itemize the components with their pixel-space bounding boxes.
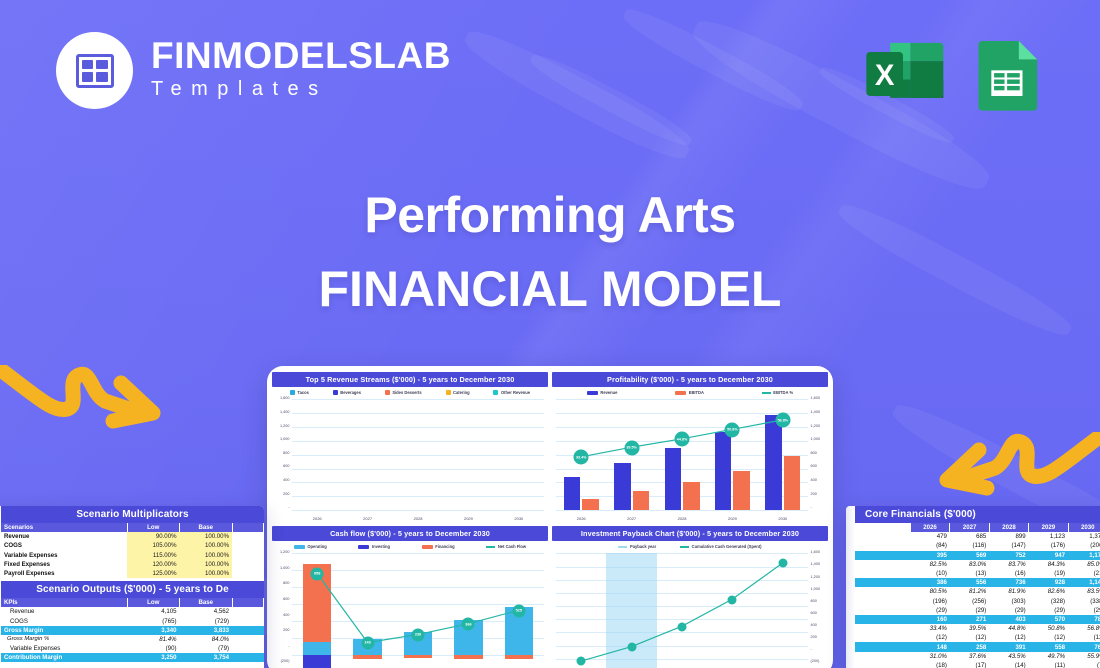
sheet-gutter — [846, 506, 855, 668]
legend-label: Net Cash Flow — [498, 544, 526, 549]
legend-swatch — [486, 546, 495, 548]
row-label: Fixed Expenses — [1, 560, 127, 569]
chart-plot: 1,600 1,400 1,200 1,000 800 600 400 200 … — [552, 551, 828, 668]
y-tick: 800 — [809, 600, 828, 604]
col-header: 2026 — [911, 523, 950, 532]
legend-label: Operating — [307, 544, 326, 549]
table-row: 148258391558769 — [855, 642, 1100, 651]
cell: 50.8% — [1029, 624, 1068, 633]
cell: 55.9% — [1068, 652, 1100, 661]
col-header: 2030 — [1068, 523, 1100, 532]
y-tick: 1,400 — [809, 411, 828, 415]
row-label — [855, 606, 911, 615]
legend-label: Tacos — [297, 390, 309, 395]
cell: 391 — [989, 642, 1028, 651]
x-tick: 2030 — [494, 516, 544, 521]
chart-panel-cash-flow: Cash flow ($'000) - 5 years to December … — [272, 526, 548, 668]
cell-base: 84.0% — [180, 635, 233, 644]
legend-swatch — [290, 390, 295, 395]
brush-stroke — [459, 21, 696, 168]
chart-plot: 1,600 1,400 1,200 1,000 800 600 400 200 … — [272, 397, 548, 522]
cell: (303) — [989, 597, 1028, 606]
cell-low: 120.00% — [127, 560, 180, 569]
legend-item: EBITDA % — [762, 390, 793, 395]
cell: (256) — [950, 597, 989, 606]
bar-column — [342, 399, 392, 510]
cell-low: 4,105 — [127, 607, 180, 616]
x-tick: 2026 — [292, 516, 342, 521]
cell: (18) — [911, 661, 950, 668]
col-header: 2029 — [1029, 523, 1068, 532]
chart-title: Profitability ($'000) - 5 years to Decem… — [552, 372, 828, 387]
bar-column — [443, 399, 493, 510]
cell-base: (729) — [180, 617, 233, 626]
cell: 33.4% — [911, 624, 950, 633]
data-point — [728, 595, 737, 604]
y-tick: - — [809, 648, 828, 652]
cell: (147) — [989, 541, 1028, 550]
cell: 83.5% — [1068, 587, 1100, 596]
table-row: 160271403570782 — [855, 615, 1100, 624]
cell: 84.3% — [1029, 560, 1068, 569]
y-tick: 1,200 — [272, 551, 291, 555]
cell: 85.0% — [1068, 560, 1100, 569]
row-label — [855, 661, 911, 668]
line-series-overlay — [556, 553, 808, 668]
data-point — [678, 622, 687, 631]
legend-swatch — [422, 545, 433, 549]
cell: 49.7% — [1029, 652, 1068, 661]
cell-base: 100.00% — [180, 532, 233, 541]
legend-label: Cumulative Cash Generated (Spent) — [692, 544, 762, 549]
cell: 1,170 — [1068, 551, 1100, 560]
cell: 39.5% — [950, 624, 989, 633]
row-label: COGS — [1, 617, 127, 626]
chart-panel-revenue-streams: Top 5 Revenue Streams ($'000) - 5 years … — [272, 372, 548, 522]
table-row: Contribution Margin3,2503,754 — [1, 653, 264, 662]
chart-legend: Payback year Cumulative Cash Generated (… — [552, 541, 828, 551]
legend-label: EBITDA % — [773, 390, 793, 395]
chart-legend: Revenue EBITDA EBITDA % — [552, 387, 828, 397]
brand-logo: FINMODELSLAB Templates — [56, 32, 451, 109]
cell: 82.5% — [911, 560, 950, 569]
legend-item: Cumulative Cash Generated (Spent) — [680, 544, 761, 549]
legend-swatch — [680, 546, 689, 548]
y-tick: (200) — [272, 660, 291, 664]
table-row: Variable Expenses115.00%100.00% — [1, 551, 264, 560]
row-label: Payroll Expenses — [1, 569, 127, 578]
cell: 570 — [1029, 615, 1068, 624]
brush-stroke — [526, 48, 695, 152]
col-header: Scenarios — [1, 523, 127, 532]
y-tick: 800 — [272, 582, 291, 586]
y-tick: 400 — [272, 479, 291, 483]
legend-label: Other Revenue — [501, 390, 530, 395]
cell: 82.6% — [1029, 587, 1068, 596]
table-row: (29)(29)(29)(29)(29) — [855, 606, 1100, 615]
legend-label: Sides Desserts — [392, 390, 421, 395]
cell: (12) — [1029, 633, 1068, 642]
legend-item: Operating — [294, 544, 327, 549]
col-header: KPIs — [1, 598, 127, 607]
x-tick: 2029 — [443, 516, 493, 521]
google-sheets-icon — [962, 30, 1050, 118]
cell: 556 — [950, 578, 989, 587]
data-label-bubble: 958 — [311, 567, 324, 580]
table-header-row: Scenarios Low Base — [1, 523, 264, 532]
cell: 395 — [911, 551, 950, 560]
row-label: Variable Expenses — [1, 551, 127, 560]
legend-label: Revenue — [600, 390, 617, 395]
scenario-outputs-table: KPIs Low Base Revenue4,1054,562 COGS(765… — [1, 598, 264, 662]
brand-tagline: Templates — [151, 74, 451, 104]
y-tick: 1,200 — [809, 576, 828, 580]
y-tick: (200) — [809, 660, 828, 664]
cell-base: 100.00% — [180, 551, 233, 560]
cell: (13) — [950, 569, 989, 578]
cell: 782 — [1068, 615, 1100, 624]
chart-title: Cash flow ($'000) - 5 years to December … — [272, 526, 548, 541]
chart-legend: Tacos Beverages Sides Desserts Catering … — [272, 387, 548, 397]
hero-line-1: Performing Arts — [0, 186, 1100, 244]
excel-icon: X — [859, 30, 947, 118]
cell: (21) — [1068, 569, 1100, 578]
cell: (338) — [1068, 597, 1100, 606]
cell: 1,149 — [1068, 578, 1100, 587]
brush-stroke — [619, 2, 808, 119]
row-label: COGS — [1, 541, 127, 550]
bar-group — [292, 399, 544, 510]
bar-column — [393, 399, 443, 510]
table-row: 80.5%81.2%81.9%82.6%83.5% — [855, 587, 1100, 596]
cell-base: 100.00% — [180, 541, 233, 550]
cell: (29) — [1068, 606, 1100, 615]
cell: (29) — [1029, 606, 1068, 615]
legend-swatch — [493, 390, 498, 395]
row-label: Gross Margin — [1, 626, 127, 635]
cell: 37.6% — [950, 652, 989, 661]
cell-low: 81.4% — [127, 635, 180, 644]
cell: (12) — [989, 633, 1028, 642]
y-tick: 600 — [809, 612, 828, 616]
cell: 44.8% — [989, 624, 1028, 633]
cell: 271 — [950, 615, 989, 624]
scenario-multiplicators-table: Scenarios Low Base Revenue90.00%100.00% … — [1, 523, 264, 578]
chart-title: Top 5 Revenue Streams ($'000) - 5 years … — [272, 372, 548, 387]
legend-label: Catering — [453, 390, 470, 395]
cell: (116) — [950, 541, 989, 550]
y-axis-labels: 1,200 1,000 800 600 400 200 - (200) — [272, 551, 291, 664]
grid-logo-icon — [56, 32, 133, 109]
data-label-bubble: 33.4% — [574, 450, 589, 465]
sheet-gutter — [0, 506, 1, 668]
scenario-multiplicators-title: Scenario Multiplicators — [1, 506, 264, 523]
y-tick: 1,000 — [809, 438, 828, 442]
y-tick: 1,200 — [809, 425, 828, 429]
table-row: Gross Margin3,3403,833 — [1, 626, 264, 635]
cell: 899 — [989, 532, 1028, 541]
legend-item: Sides Desserts — [385, 390, 422, 395]
x-tick: 2030 — [758, 516, 808, 521]
y-axis-labels: 1,600 1,400 1,200 1,000 800 600 400 200 … — [272, 397, 291, 510]
cell: (29) — [989, 606, 1028, 615]
row-label — [855, 587, 911, 596]
table-row: 82.5%83.0%83.7%84.3%85.0% — [855, 560, 1100, 569]
x-tick: 2028 — [393, 516, 443, 521]
table-header-row: KPIs Low Base — [1, 598, 264, 607]
squiggly-arrow-right-icon — [0, 365, 195, 485]
table-row: (10)(13)(16)(19)(21) — [855, 569, 1100, 578]
plot-area — [556, 553, 808, 668]
core-financials-sheet: Core Financials ($'000) 2026202720282029… — [846, 506, 1100, 668]
cell: 56.8% — [1068, 624, 1100, 633]
cell-low: 115.00% — [127, 551, 180, 560]
cell: 83.0% — [950, 560, 989, 569]
brand-name: FINMODELSLAB — [151, 37, 451, 75]
legend-item: Payback year — [618, 544, 656, 549]
x-tick: 2028 — [657, 516, 707, 521]
cell-base: 3,754 — [180, 653, 233, 662]
cell: (12) — [1068, 633, 1100, 642]
line-series-overlay: 33.4%39.5%44.8%50.8%56.8% — [556, 399, 808, 510]
svg-text:X: X — [875, 59, 895, 92]
legend-swatch — [385, 390, 390, 395]
cell: 258 — [950, 642, 989, 651]
row-label: Gross Margin % — [1, 635, 127, 644]
legend-swatch — [618, 546, 627, 548]
core-financials-title: Core Financials ($'000) — [855, 506, 1100, 523]
data-point — [778, 559, 787, 568]
hero-line-2: FINANCIAL MODEL — [0, 260, 1100, 318]
row-label — [855, 652, 911, 661]
cell-low: 90.00% — [127, 532, 180, 541]
row-label: Variable Expenses — [1, 644, 127, 653]
legend-item: Net Cash Flow — [486, 544, 526, 549]
legend-swatch — [762, 392, 771, 394]
table-row: 4796858991,1231,376 — [855, 532, 1100, 541]
legend-item: EBITDA — [675, 390, 704, 395]
cell-low: 3,340 — [127, 626, 180, 635]
row-label — [855, 633, 911, 642]
cell: (29) — [950, 606, 989, 615]
cell: 569 — [950, 551, 989, 560]
row-label — [855, 569, 911, 578]
cell: (19) — [1029, 569, 1068, 578]
y-tick: - — [809, 506, 828, 510]
bar-column — [494, 399, 544, 510]
y-tick: 800 — [809, 452, 828, 456]
x-tick: 2027 — [342, 516, 392, 521]
hero-title: Performing Arts FINANCIAL MODEL — [0, 186, 1100, 318]
legend-label: Beverages — [340, 390, 361, 395]
bar-column — [292, 399, 342, 510]
y-tick: 600 — [809, 465, 828, 469]
col-header: 2027 — [950, 523, 989, 532]
legend-label: Investing — [372, 544, 390, 549]
col-header: Base — [180, 523, 233, 532]
chart-legend: Operating Investing Financing Net Cash F… — [272, 541, 548, 551]
cell: (17) — [950, 661, 989, 668]
data-label-bubble: 44.8% — [675, 432, 690, 447]
legend-item: Tacos — [290, 390, 309, 395]
y-tick: 1,400 — [272, 411, 291, 415]
row-label — [855, 624, 911, 633]
plot-area: 958143239366525 — [292, 553, 544, 668]
cell: 403 — [989, 615, 1028, 624]
cell: 479 — [911, 532, 950, 541]
cell: (196) — [911, 597, 950, 606]
cell-low: 105.00% — [127, 541, 180, 550]
cell: 685 — [950, 532, 989, 541]
cell: 558 — [1029, 642, 1068, 651]
table-row: 3955697529471,170 — [855, 551, 1100, 560]
row-label: Revenue — [1, 532, 127, 541]
legend-label: Payback year — [630, 544, 656, 549]
table-row: 31.0%37.6%43.5%49.7%55.9% — [855, 652, 1100, 661]
row-label: Contribution Margin — [1, 653, 127, 662]
legend-item: Revenue — [587, 390, 618, 395]
chart-panel-profitability: Profitability ($'000) - 5 years to Decem… — [552, 372, 828, 522]
cell: 31.0% — [911, 652, 950, 661]
cell-base: 3,833 — [180, 626, 233, 635]
x-tick: 2029 — [707, 516, 757, 521]
cell: 769 — [1068, 642, 1100, 651]
data-point — [627, 642, 636, 651]
row-label — [855, 532, 911, 541]
table-row: (12)(12)(12)(12)(12) — [855, 633, 1100, 642]
data-label-bubble: 239 — [412, 628, 425, 641]
cell: 947 — [1029, 551, 1068, 560]
row-label — [855, 541, 911, 550]
x-tick: 2026 — [556, 516, 606, 521]
cell: (176) — [1029, 541, 1068, 550]
data-label-bubble: 50.8% — [725, 422, 740, 437]
data-label-bubble: 525 — [512, 604, 525, 617]
plot-area — [292, 399, 544, 510]
table-row: Revenue4,1054,562 — [1, 607, 264, 616]
legend-swatch — [675, 391, 686, 395]
table-row: 33.4%39.5%44.8%50.8%56.8% — [855, 624, 1100, 633]
cell: (11) — [1029, 661, 1068, 668]
table-row: (196)(256)(303)(328)(338) — [855, 597, 1100, 606]
legend-item: Catering — [446, 390, 470, 395]
table-header-row: 20262027202820292030 — [855, 523, 1100, 532]
row-label — [855, 597, 911, 606]
y-tick: 200 — [272, 493, 291, 497]
y-tick: 600 — [272, 465, 291, 469]
table-row: COGS105.00%100.00% — [1, 541, 264, 550]
y-tick: 400 — [809, 479, 828, 483]
y-tick: - — [272, 645, 291, 649]
y-tick: 1,000 — [809, 588, 828, 592]
y-tick: 800 — [272, 452, 291, 456]
legend-swatch — [587, 391, 598, 395]
row-label: Revenue — [1, 607, 127, 616]
cell-low: (765) — [127, 617, 180, 626]
cell: (7) — [1068, 661, 1100, 668]
chart-panel-investment-payback: Investment Payback Chart ($'000) - 5 yea… — [552, 526, 828, 668]
x-axis-labels: 2026 2027 2028 2029 2030 — [292, 516, 544, 521]
cell: (10) — [911, 569, 950, 578]
table-row: (18)(17)(14)(11)(7) — [855, 661, 1100, 668]
cell: 43.5% — [989, 652, 1028, 661]
cell: 81.2% — [950, 587, 989, 596]
row-label — [855, 615, 911, 624]
cell: 148 — [911, 642, 950, 651]
col-header: Base — [180, 598, 233, 607]
y-tick: 1,600 — [809, 551, 828, 555]
scenario-outputs-title: Scenario Outputs ($'000) - 5 years to De — [1, 581, 264, 598]
table-row: Variable Expenses(90)(79) — [1, 644, 264, 653]
y-tick: 1,000 — [272, 567, 291, 571]
cell-low: (90) — [127, 644, 180, 653]
y-tick: - — [272, 506, 291, 510]
legend-label: Financing — [435, 544, 454, 549]
row-label — [855, 560, 911, 569]
data-point — [577, 657, 586, 666]
dashboard-card: Top 5 Revenue Streams ($'000) - 5 years … — [267, 366, 833, 668]
cell-base: 4,562 — [180, 607, 233, 616]
file-format-icons: X — [859, 30, 1050, 118]
table-row: Fixed Expenses120.00%100.00% — [1, 560, 264, 569]
cell: (12) — [950, 633, 989, 642]
cell: (12) — [911, 633, 950, 642]
legend-item: Other Revenue — [493, 390, 530, 395]
legend-item: Investing — [358, 544, 389, 549]
col-header: 2028 — [989, 523, 1028, 532]
cell: (14) — [989, 661, 1028, 668]
col-header: Low — [127, 598, 180, 607]
x-axis-labels: 2026 2027 2028 2029 2030 — [556, 516, 808, 521]
legend-label: EBITDA — [689, 390, 704, 395]
x-tick: 2027 — [606, 516, 656, 521]
core-financials-table: 202620272028202920304796858991,1231,376(… — [855, 523, 1100, 668]
plot-area: 33.4%39.5%44.8%50.8%56.8% — [556, 399, 808, 510]
cell: (16) — [989, 569, 1028, 578]
y-axis-labels: 1,600 1,400 1,200 1,000 800 600 400 200 … — [809, 397, 828, 510]
table-row: Revenue90.00%100.00% — [1, 532, 264, 541]
y-tick: 1,400 — [809, 563, 828, 567]
table-row: COGS(765)(729) — [1, 617, 264, 626]
table-row: Payroll Expenses125.00%100.00% — [1, 569, 264, 578]
legend-swatch — [358, 545, 369, 549]
row-label — [855, 578, 911, 587]
cell-base: 100.00% — [180, 569, 233, 578]
cell-base: (79) — [180, 644, 233, 653]
cell: 83.7% — [989, 560, 1028, 569]
cell: (206) — [1068, 541, 1100, 550]
cell: 80.5% — [911, 587, 950, 596]
row-label — [855, 642, 911, 651]
cell: 386 — [911, 578, 950, 587]
y-tick: 1,000 — [272, 438, 291, 442]
y-tick: 400 — [809, 624, 828, 628]
y-tick: 400 — [272, 614, 291, 618]
chart-plot: 1,600 1,400 1,200 1,000 800 600 400 200 … — [552, 397, 828, 522]
legend-swatch — [294, 545, 305, 549]
y-axis-labels: 1,600 1,400 1,200 1,000 800 600 400 200 … — [809, 551, 828, 664]
cell: (29) — [911, 606, 950, 615]
y-tick: 1,600 — [809, 397, 828, 401]
cell-base: 100.00% — [180, 560, 233, 569]
legend-item: Beverages — [333, 390, 361, 395]
cell: (328) — [1029, 597, 1068, 606]
y-tick: 1,200 — [272, 425, 291, 429]
col-header: Low — [127, 523, 180, 532]
cell: 752 — [989, 551, 1028, 560]
y-tick: 1,600 — [272, 397, 291, 401]
row-label — [855, 551, 911, 560]
